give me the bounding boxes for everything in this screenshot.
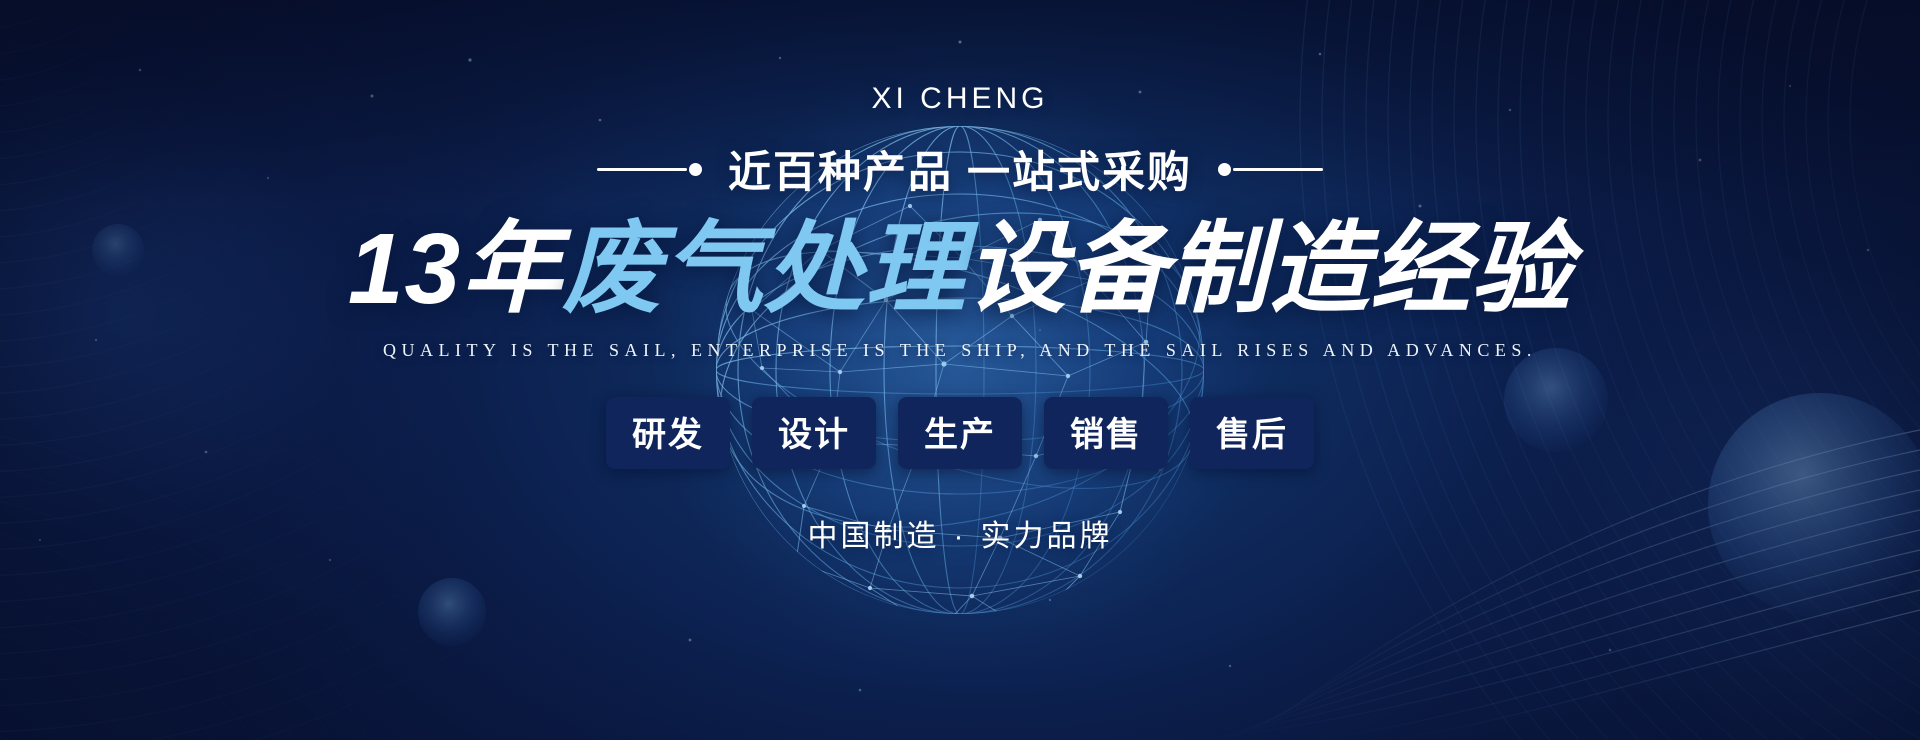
subtitle-text: 近百种产品 一站式采购 — [728, 138, 1192, 200]
brand-name-en: XI CHENG — [871, 82, 1048, 116]
service-tag[interactable]: 研发 — [606, 397, 730, 469]
right-rule-bar — [1233, 168, 1323, 171]
headline-part-rest: 设备制造经验 — [966, 213, 1572, 325]
footer-slogan: 中国制造·实力品牌 — [808, 511, 1113, 555]
footer-slogan-left: 中国制造 — [808, 520, 940, 553]
headline: 13年废气处理设备制造经验 — [348, 210, 1572, 328]
left-rule-dot — [689, 163, 702, 176]
right-rule-dot — [1218, 163, 1231, 176]
headline-part-years: 13年 — [348, 213, 562, 325]
footer-slogan-right: 实力品牌 — [981, 520, 1113, 553]
service-tag-list: 研发 设计 生产 销售 售后 — [606, 397, 1314, 469]
subtitle-row: 近百种产品 一站式采购 — [597, 138, 1323, 200]
footer-slogan-separator: · — [940, 520, 981, 553]
service-tag[interactable]: 生产 — [898, 397, 1022, 469]
left-rule-bar — [597, 168, 687, 171]
right-rule-decoration — [1218, 163, 1323, 176]
headline-part-highlight: 废气处理 — [562, 213, 966, 325]
service-tag[interactable]: 设计 — [752, 397, 876, 469]
service-tag[interactable]: 售后 — [1190, 397, 1314, 469]
hero-banner: XI CHENG 近百种产品 一站式采购 13年废气处理设备制造经验 QUALI… — [0, 0, 1920, 740]
banner-content: XI CHENG 近百种产品 一站式采购 13年废气处理设备制造经验 QUALI… — [0, 0, 1920, 740]
left-rule-decoration — [597, 163, 702, 176]
service-tag[interactable]: 销售 — [1044, 397, 1168, 469]
tagline-english: QUALITY IS THE SAIL, ENTERPRISE IS THE S… — [383, 340, 1537, 361]
